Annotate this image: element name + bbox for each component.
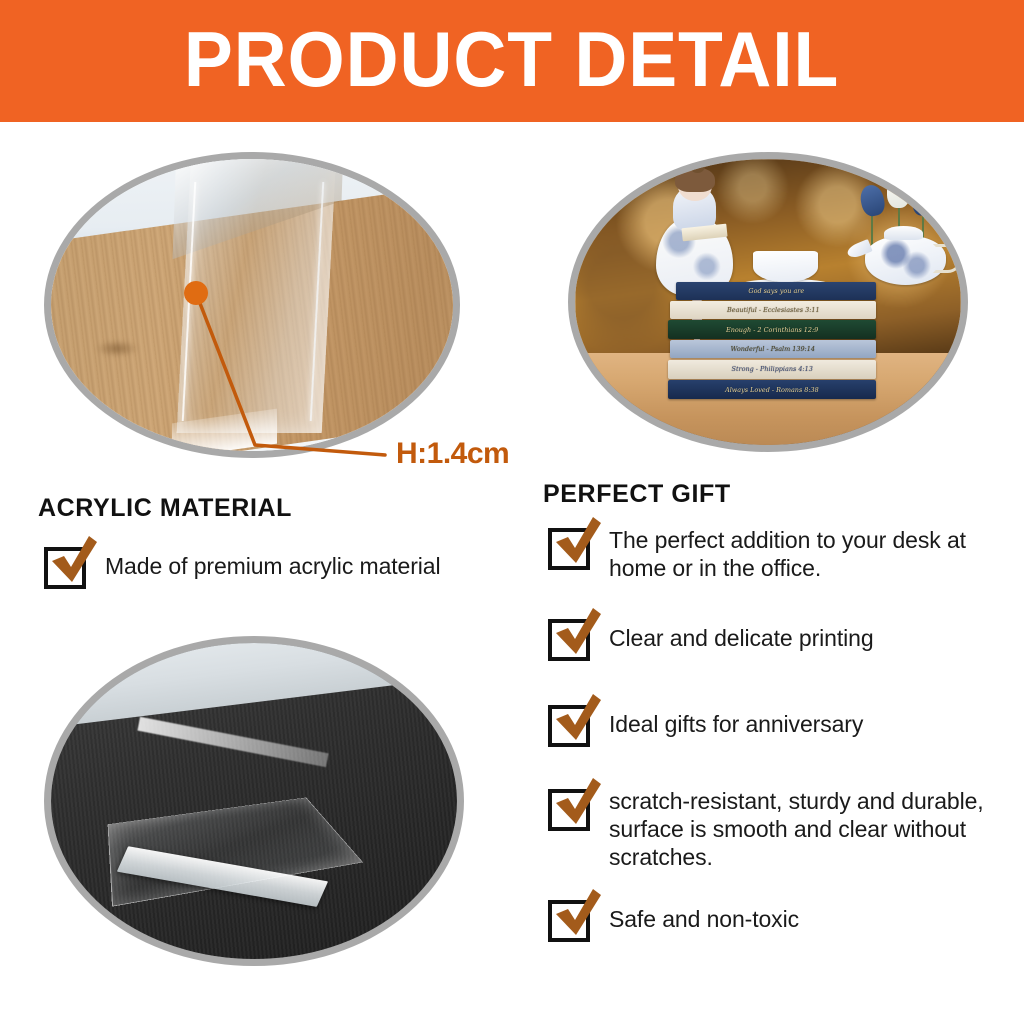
feature-item-clear-printing: Clear and delicate printing xyxy=(548,617,1000,661)
book-spine-text: Beautiful - Ecclesiastes 3:11 xyxy=(727,306,820,313)
checkbox[interactable] xyxy=(44,547,86,589)
checkmark-icon xyxy=(548,692,606,748)
feature-item-perfect-addition: The perfect addition to your desk at hom… xyxy=(548,526,1000,582)
slate-background xyxy=(51,643,457,959)
book-spine: Always Loved - Romans 8:38 xyxy=(668,380,876,399)
book-spine: Wonderful - Psalm 139:14 xyxy=(670,340,876,358)
acrylic-block-highlight xyxy=(137,716,328,767)
feature-item-safe-non-toxic: Safe and non-toxic xyxy=(548,898,1000,942)
teacup xyxy=(753,251,819,282)
checkbox[interactable] xyxy=(548,528,590,570)
feature-text: Ideal gifts for anniversary xyxy=(609,710,863,738)
acrylic-block-photo-image xyxy=(51,643,457,959)
checkmark-icon xyxy=(548,606,606,662)
checkbox[interactable] xyxy=(548,619,590,661)
feature-text: Clear and delicate printing xyxy=(609,624,874,652)
checkmark-icon xyxy=(548,776,606,832)
wood-background xyxy=(51,159,453,451)
feature-text: Made of premium acrylic material xyxy=(105,552,441,580)
feature-item-scratch-resistant: scratch-resistant, sturdy and durable, s… xyxy=(548,787,1000,871)
figurine-photo: God says you are Beautiful - Ecclesiaste… xyxy=(568,152,968,452)
tulip-bloom xyxy=(858,183,887,218)
girl-figurine xyxy=(656,170,733,296)
book-spine-text: Strong - Philippians 4:13 xyxy=(731,366,812,373)
section-heading-perfect-gift: PERFECT GIFT xyxy=(543,480,731,509)
book-spine: God says you are xyxy=(676,282,876,300)
checkmark-icon xyxy=(44,534,102,590)
section-heading-acrylic-material: ACRYLIC MATERIAL xyxy=(38,494,292,523)
book-spine-text: Wonderful - Psalm 139:14 xyxy=(731,346,815,353)
feature-item-acrylic-material: Made of premium acrylic material xyxy=(44,545,514,589)
acrylic-block-photo xyxy=(44,636,464,966)
book-spine-text: Enough - 2 Corinthians 12:9 xyxy=(726,326,818,333)
book-spine-text: Always Loved - Romans 8:38 xyxy=(725,386,819,393)
acrylic-edge-photo xyxy=(44,152,460,458)
figurine-photo-image: God says you are Beautiful - Ecclesiaste… xyxy=(575,159,961,445)
tulip-bloom xyxy=(911,184,939,219)
page-title: PRODUCT DETAIL xyxy=(184,20,839,102)
wood-knot xyxy=(95,340,139,357)
tulip-bloom xyxy=(887,176,910,207)
checkmark-icon xyxy=(548,887,606,943)
checkbox[interactable] xyxy=(548,900,590,942)
checkbox[interactable] xyxy=(548,789,590,831)
teapot-lid xyxy=(884,226,923,241)
acrylic-block xyxy=(116,725,376,883)
book-spine: Beautiful - Ecclesiastes 3:11 xyxy=(670,301,876,319)
teapot-handle xyxy=(933,244,961,273)
teapot xyxy=(865,236,946,285)
slate-edge-light xyxy=(51,643,457,729)
checkmark-icon xyxy=(548,515,606,571)
book-spine: Strong - Philippians 4:13 xyxy=(668,360,876,379)
book-spine-text: God says you are xyxy=(748,287,804,294)
feature-item-anniversary-gift: Ideal gifts for anniversary xyxy=(548,703,1000,747)
acrylic-edge-photo-image xyxy=(51,159,453,451)
book-spine: Enough - 2 Corinthians 12:9 xyxy=(668,320,876,339)
feature-text: Safe and non-toxic xyxy=(609,905,799,933)
checkbox[interactable] xyxy=(548,705,590,747)
book-stack: God says you are Beautiful - Ecclesiaste… xyxy=(668,279,876,399)
feature-text: The perfect addition to your desk at hom… xyxy=(609,526,1000,582)
header-banner: PRODUCT DETAIL xyxy=(0,0,1024,122)
callout-label: H:1.4cm xyxy=(396,437,509,471)
feature-text: scratch-resistant, sturdy and durable, s… xyxy=(609,787,1000,871)
